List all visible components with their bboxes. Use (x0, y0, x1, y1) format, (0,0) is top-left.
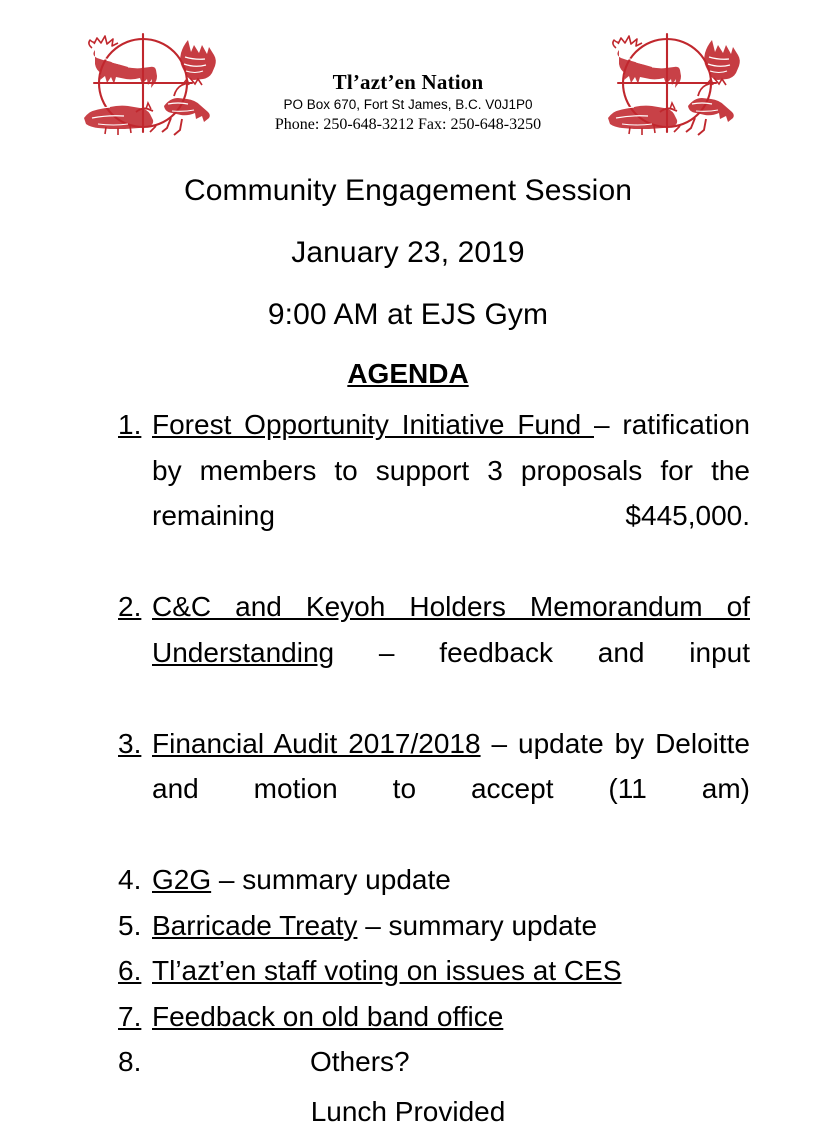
organization-contact: Phone: 250-648-3212 Fax: 250-648-3250 (228, 114, 588, 135)
agenda-item-number: 2. (118, 584, 152, 630)
agenda-item-underlined-text: G2G (152, 864, 211, 895)
organization-address: PO Box 670, Fort St James, B.C. V0J1P0 (228, 95, 588, 114)
agenda-item-6: 6.Tl’azt’en staff voting on issues at CE… (0, 948, 816, 994)
agenda-heading-text: AGENDA (347, 358, 468, 389)
agenda-item-underlined-text: Forest Opportunity Initiative Fund (152, 409, 594, 440)
agenda-item-number: 1. (118, 402, 152, 448)
agenda-item-2: 2.C&C and Keyoh Holders Memorandum of Un… (0, 584, 816, 721)
document-page: Tl’azt’en Nation PO Box 670, Fort St Jam… (0, 0, 816, 1056)
agenda-item-number: 4. (118, 857, 152, 903)
agenda-item-underlined-text: Financial Audit 2017/2018 (152, 728, 481, 759)
agenda-item-number: 3. (118, 721, 152, 767)
agenda-item-3: 3.Financial Audit 2017/2018 – update by … (0, 721, 816, 858)
event-title: Community Engagement Session (0, 160, 816, 222)
tlazten-nation-crest-icon-right (592, 26, 742, 148)
agenda-item-7: 7.Feedback on old band office (0, 994, 816, 1040)
tlazten-nation-crest-icon-left (68, 26, 218, 148)
agenda-item-5: 5.Barricade Treaty – summary update (0, 903, 816, 949)
agenda-item-text: – feedback and input (334, 637, 750, 668)
lunch-note: Lunch Provided (0, 1087, 816, 1137)
event-time-location: 9:00 AM at EJS Gym (0, 284, 816, 346)
agenda-item-text: Others? (310, 1039, 410, 1085)
agenda-item-4: 4.G2G – summary update (0, 857, 816, 903)
agenda-item-number: 7. (118, 994, 152, 1040)
agenda-item-8: 8.Others? (0, 1039, 816, 1085)
agenda-list: 1.Forest Opportunity Initiative Fund – r… (0, 402, 816, 1085)
agenda-item-underlined-text: Tl’azt’en staff voting on issues at CES (152, 955, 622, 986)
agenda-item-text: – summary update (211, 864, 451, 895)
agenda-item-number: 8. (118, 1039, 152, 1085)
agenda-item-number: 5. (118, 903, 152, 949)
agenda-heading: AGENDA (0, 346, 816, 402)
agenda-item-1: 1.Forest Opportunity Initiative Fund – r… (0, 402, 816, 584)
agenda-item-text: – summary update (357, 910, 597, 941)
agenda-item-underlined-text: Feedback on old band office (152, 1001, 503, 1032)
organization-name: Tl’azt’en Nation (228, 70, 588, 95)
event-date: January 23, 2019 (0, 222, 816, 284)
agenda-item-number: 6. (118, 948, 152, 994)
organization-block: Tl’azt’en Nation PO Box 670, Fort St Jam… (228, 70, 588, 135)
letterhead: Tl’azt’en Nation PO Box 670, Fort St Jam… (0, 26, 816, 156)
agenda-item-underlined-text: Barricade Treaty (152, 910, 357, 941)
document-body: Community Engagement Session January 23,… (0, 160, 816, 1137)
